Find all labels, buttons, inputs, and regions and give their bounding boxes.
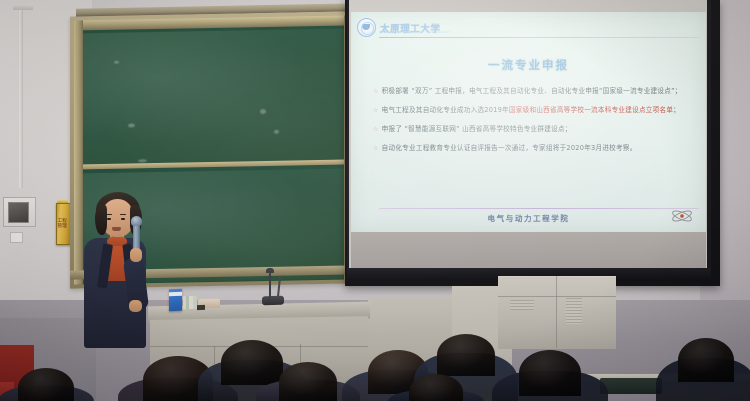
atom-swoosh-icon: [671, 208, 693, 224]
bullet-text: 申报了 “智慧能源互联网” 山西省高等学校特色专业群建设点；: [382, 125, 572, 133]
bullet-text-highlight: 国家级和山西省高等学校一流本科专业建设点立项名单: [509, 106, 673, 114]
audience-member-head: [678, 338, 734, 382]
speaker-hand-holding-mic: [130, 248, 142, 262]
cabinet-vent: [510, 300, 534, 310]
slide-title: 一流专业申报: [351, 57, 706, 73]
bullet-text: 电气工程及其自动化专业成功入选2019年: [382, 106, 509, 114]
bullet-text: ；: [673, 106, 680, 114]
chalkboard-left-rail: [74, 20, 83, 284]
conduit-elbow: [13, 4, 33, 10]
bullet-text: 自动化专业工程教育专业认证自评报告一次通过，专家组将于2020年3月进校考察。: [382, 144, 637, 152]
equipment-cabinet: [498, 276, 616, 349]
plaque-text: 工程管理: [58, 219, 70, 228]
gooseneck-microphone-head: [266, 268, 274, 273]
audience-member-head: [221, 340, 283, 385]
slide-body: ☆积极部署 “双万” 工程申报，电气工程及其自动化专业、自动化专业申报“国家级一…: [373, 86, 695, 162]
gold-wall-plaque: 工程管理: [56, 203, 71, 245]
wall-conduit-pipe: [18, 8, 23, 188]
university-seal-icon: [357, 18, 376, 37]
wall-light-switch[interactable]: [10, 232, 23, 243]
bullet-star-icon: ☆: [373, 126, 379, 133]
speaker-eye: [121, 218, 125, 220]
projected-slide: 太原理工大学 TAIYUAN UNIVERSITY OF TECHNOLOGY …: [351, 12, 706, 232]
audience-member-head: [18, 368, 74, 401]
laptop-on-table: [600, 378, 662, 394]
gooseneck-microphone-base: [262, 296, 284, 306]
gooseneck-microphone-arm: [269, 272, 271, 298]
bullet-star-icon: ☆: [373, 145, 379, 152]
small-device: [197, 305, 205, 310]
speaker-eye: [107, 218, 111, 220]
cabinet-divider: [498, 296, 616, 297]
electrical-box-interior: [8, 202, 29, 223]
bullet-text: 积极部署 “双万” 工程申报，电气工程及其自动化专业、自动化专业申报“国家级一流…: [382, 87, 682, 95]
bullet-star-icon: ☆: [373, 107, 379, 114]
audience-member-head: [519, 350, 581, 396]
speaker-hand: [129, 300, 142, 312]
lecture-hall-photo: 工程管理 太原理工大学 TAIYUAN UNIVERSITY OF TECHNO…: [0, 0, 750, 401]
slide-bullet: ☆积极部署 “双万” 工程申报，电气工程及其自动化专业、自动化专业申报“国家级一…: [373, 86, 695, 97]
slide-footer-text: 电气与动力工程学院: [351, 213, 706, 224]
cabinet-vent: [566, 298, 582, 324]
slide-footer-rule: [379, 208, 699, 209]
slide-bullet: ☆申报了 “智慧能源互联网” 山西省高等学校特色专业群建设点；: [373, 124, 695, 135]
university-name-en: TAIYUAN UNIVERSITY OF TECHNOLOGY: [379, 30, 450, 34]
cabinet-divider: [556, 276, 557, 348]
chalkboard-pane-top: [81, 28, 349, 165]
slide-bullet: ☆自动化专业工程教育专业认证自评报告一次通过，专家组将于2020年3月进校考察。: [373, 143, 695, 154]
speaker-mouth: [112, 227, 121, 231]
slide-bullet: ☆电气工程及其自动化专业成功入选2019年国家级和山西省高等学校一流本科专业建设…: [373, 105, 695, 116]
audience-member-head: [437, 334, 495, 376]
screen-lower-band: [351, 232, 706, 268]
book-stack: [183, 296, 197, 309]
tissue-box-top: [169, 292, 182, 296]
handheld-microphone-head: [131, 216, 142, 226]
audience-member-head: [279, 362, 337, 401]
bullet-star-icon: ☆: [373, 88, 379, 95]
speaker-hair-side: [95, 205, 107, 235]
slide-header-rule: [379, 37, 699, 38]
slide-university-logo: 太原理工大学: [357, 18, 441, 37]
